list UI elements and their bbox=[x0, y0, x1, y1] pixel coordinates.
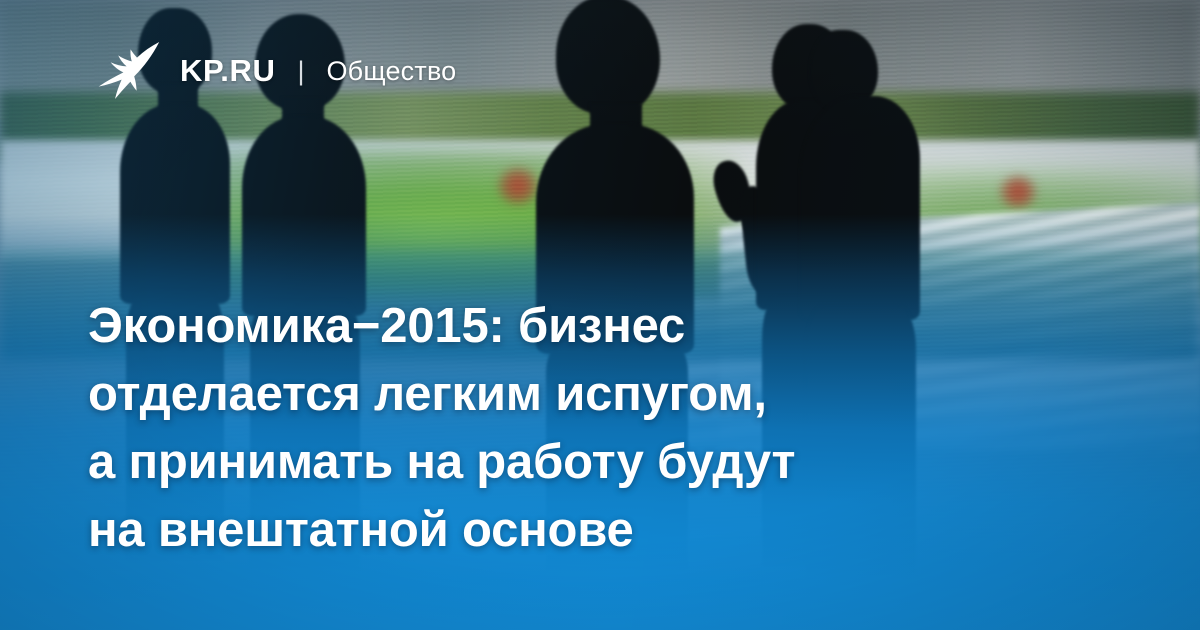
header-separator: | bbox=[297, 56, 304, 87]
headline-line-1: Экономика−2015: бизнес bbox=[88, 292, 988, 360]
headline-line-2: отделается легким испугом, bbox=[88, 360, 988, 428]
headline-line-4: на внештатной основе bbox=[88, 496, 988, 564]
headline-line-3: а принимать на работу будут bbox=[88, 428, 988, 496]
brand-header: KP.RU | Общество bbox=[96, 40, 456, 102]
headline: Экономика−2015: бизнес отделается легким… bbox=[88, 292, 988, 564]
social-share-card: KP.RU | Общество Экономика−2015: бизнес … bbox=[0, 0, 1200, 630]
brand-name[interactable]: KP.RU bbox=[180, 53, 275, 89]
kp-swallow-bird-icon[interactable] bbox=[96, 40, 160, 102]
rubric-label[interactable]: Общество bbox=[326, 56, 456, 87]
